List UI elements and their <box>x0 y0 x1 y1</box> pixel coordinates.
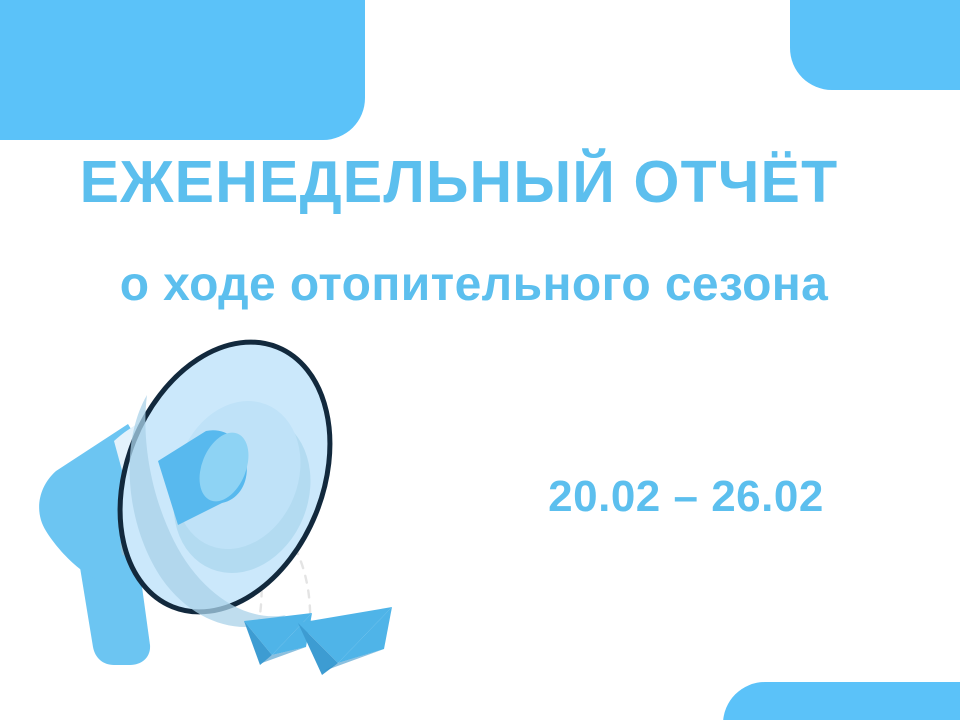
decor-block-top-left <box>0 0 365 140</box>
paper-plane-large <box>298 607 392 675</box>
page-subtitle: о ходе отопительного сезона <box>0 260 960 310</box>
slide-canvas: ЕЖЕНЕДЕЛЬНЫЙ ОТЧЁТ о ходе отопительного … <box>0 0 960 720</box>
megaphone-illustration <box>10 325 510 685</box>
decor-block-bottom-right <box>723 682 960 720</box>
paper-plane-small <box>244 613 312 665</box>
page-title: ЕЖЕНЕДЕЛЬНЫЙ ОТЧЁТ <box>0 152 960 214</box>
date-range-label: 20.02 – 26.02 <box>500 472 872 522</box>
decor-block-top-right <box>790 0 960 90</box>
